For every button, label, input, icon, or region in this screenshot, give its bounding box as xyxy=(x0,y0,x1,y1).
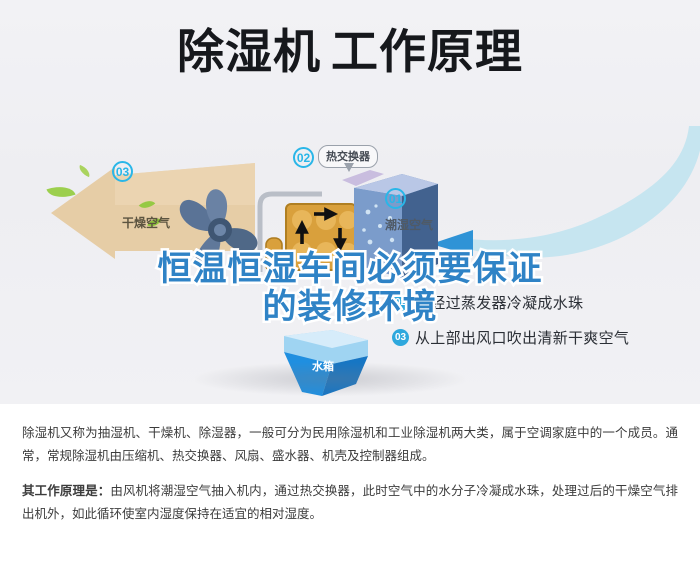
hero-infographic: 除湿机工作原理 xyxy=(0,0,700,404)
paragraph-intro: 除湿机又称为抽湿机、干燥机、除湿器，一般可分为民用除湿机和工业除湿机两大类，属于… xyxy=(22,422,678,468)
list-item: 03 从上部出风口吹出清新干爽空气 xyxy=(392,327,692,348)
page-title: 除湿机工作原理 xyxy=(0,22,700,82)
paragraph-principle-text: 由风机将潮湿空气抽入机内，通过热交换器，此时空气中的水分子冷凝成水珠，处理过后的… xyxy=(22,484,678,521)
dehumidifier-article-page: 除湿机工作原理 xyxy=(0,0,700,566)
diagram-badge-dry-air: 03 xyxy=(112,161,133,182)
diagram-badge-heat-exchanger: 02 xyxy=(293,147,314,168)
callout-tail-icon xyxy=(344,163,354,172)
paragraph-principle: 其工作原理是：由风机将潮湿空气抽入机内，通过热交换器，此时空气中的水分子冷凝成水… xyxy=(22,480,678,526)
caption-humid-air: 潮湿空气 xyxy=(385,216,433,233)
caption-water-tank: 水箱 xyxy=(312,358,334,374)
overlay-headline-line2: 的装修环境 xyxy=(0,288,700,326)
step-badge: 03 xyxy=(392,329,409,346)
paragraph-principle-label: 其工作原理是： xyxy=(22,484,110,498)
overlay-headline: 恒温恒湿车间必须要保证 的装修环境 xyxy=(0,250,700,326)
diagram-badge-humid-air: 01 xyxy=(385,188,406,209)
page-title-part2: 工作原理 xyxy=(331,25,523,78)
page-title-part1: 除湿机 xyxy=(177,25,321,78)
step-label: 从上部出风口吹出清新干爽空气 xyxy=(415,327,629,348)
caption-dry-air: 干燥空气 xyxy=(122,214,170,231)
overlay-headline-line1: 恒温恒湿车间必须要保证 xyxy=(158,250,543,288)
article-body: 除湿机又称为抽湿机、干燥机、除湿器，一般可分为民用除湿机和工业除湿机两大类，属于… xyxy=(0,404,700,566)
